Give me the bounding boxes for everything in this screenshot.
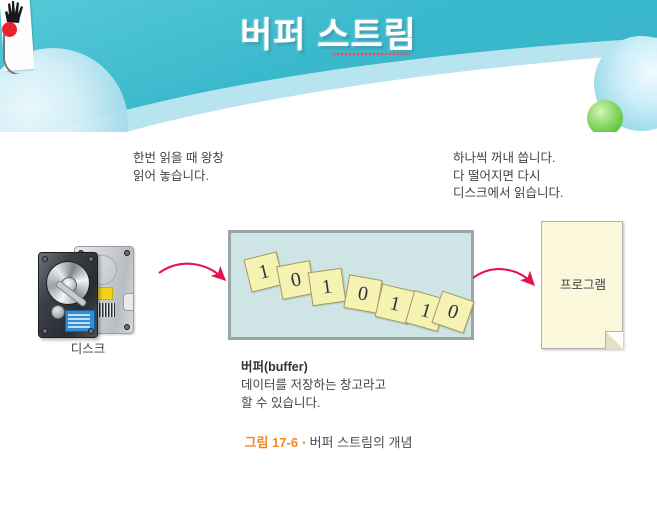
- disk-screw: [42, 256, 48, 262]
- disk-screw: [88, 256, 94, 262]
- disk-screw: [88, 328, 94, 334]
- hard-disk-front-icon: [38, 252, 98, 338]
- disk-actuator-pivot: [51, 305, 65, 319]
- program-document: 프로그램: [541, 221, 623, 349]
- page-title: 버퍼 스트림: [0, 7, 657, 58]
- program-label: 프로그램: [542, 274, 624, 293]
- buffer-term: 버퍼(buffer): [241, 358, 386, 376]
- slide-header: 버퍼 스트림: [0, 0, 657, 132]
- figure-number: 그림 17-6: [245, 435, 299, 450]
- page-fold-icon: [605, 331, 623, 349]
- disk-illustration: 디스크: [36, 246, 140, 336]
- disk-screw: [124, 324, 130, 330]
- buffer-description: 버퍼(buffer) 데이터를 저장하는 창고라고 할 수 있습니다.: [241, 358, 386, 412]
- spellcheck-underline: [332, 52, 410, 56]
- figure-caption: 그림 17-6•버퍼 스트림의 개념: [0, 432, 657, 451]
- bit-card: 1: [308, 268, 346, 306]
- arrow-buffer-to-program: [472, 258, 544, 308]
- figure-caption-text: 버퍼 스트림의 개념: [310, 435, 413, 450]
- bit-value: 1: [309, 269, 345, 305]
- disk-label: 디스크: [36, 338, 140, 357]
- note-consume-one-by-one: 하나씩 꺼내 씁니다. 다 떨어지면 다시 디스크에서 읽습니다.: [453, 150, 563, 203]
- arrow-disk-to-buffer: [158, 252, 236, 308]
- page-title-text: 버퍼 스트림: [240, 16, 417, 55]
- figure-separator-dot: •: [302, 438, 306, 449]
- slide-canvas: 버퍼 스트림 한번 읽을 때 왕창 읽어 놓습니다. 하나씩 꺼내 씁니다. 다…: [0, 0, 657, 515]
- disk-screw: [42, 328, 48, 334]
- note-read-ahead: 한번 읽을 때 왕창 읽어 놓습니다.: [133, 150, 224, 185]
- buffer-box: 1 0 1 0 1 1 0: [228, 230, 474, 340]
- disk-back-notch: [123, 293, 134, 311]
- buffer-definition: 데이터를 저장하는 창고라고 할 수 있습니다.: [241, 376, 386, 412]
- disk-screw: [124, 250, 130, 256]
- decorative-sphere-green: [587, 100, 623, 132]
